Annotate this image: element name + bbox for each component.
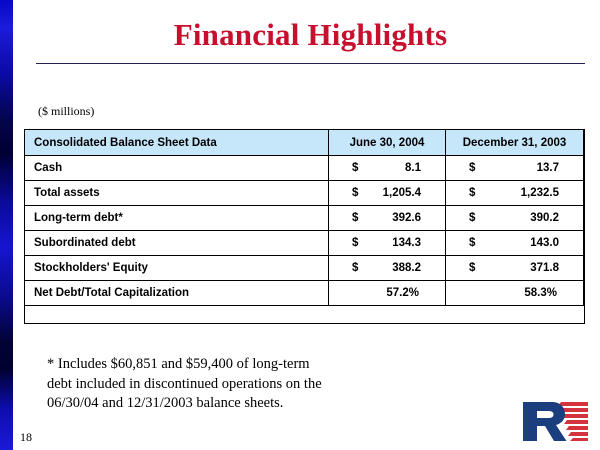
slide-canvas: Financial Highlights ($ millions) Consol… <box>0 0 600 450</box>
row-label-subordinated-debt: Subordinated debt <box>25 231 329 256</box>
cell-cash-december: $ 13.7 <box>446 156 584 181</box>
column-header-june-2004: June 30, 2004 <box>329 130 446 156</box>
currency-symbol: $ <box>352 262 358 274</box>
row-label-total-assets: Total assets <box>25 181 329 206</box>
balance-sheet-table: Consolidated Balance Sheet Data June 30,… <box>24 129 584 306</box>
footnote-line-2: debt included in discontinued operations… <box>47 375 407 395</box>
cell-total-assets-june: $ 1,205.4 <box>329 181 446 206</box>
cell-value: 388.2 <box>392 262 421 274</box>
cell-value: 1,232.5 <box>521 187 559 199</box>
column-header-december-2003: December 31, 2003 <box>446 130 584 156</box>
footnote-line-1: * Includes $60,851 and $59,400 of long-t… <box>47 355 407 375</box>
cell-cash-june: $ 8.1 <box>329 156 446 181</box>
cell-value: 1,205.4 <box>383 187 421 199</box>
cell-long-term-debt-december: $ 390.2 <box>446 206 584 231</box>
currency-symbol: $ <box>352 187 358 199</box>
row-label-cash: Cash <box>25 156 329 181</box>
cell-value: 392.6 <box>392 212 421 224</box>
title-divider <box>36 63 585 64</box>
row-label-net-debt-total-capitalization: Net Debt/Total Capitalization <box>25 281 329 306</box>
table-row: Net Debt/Total Capitalization 57.2% 58.3… <box>25 281 584 306</box>
currency-symbol: $ <box>469 212 475 224</box>
row-label-long-term-debt: Long-term debt* <box>25 206 329 231</box>
cell-value: 371.8 <box>530 262 559 274</box>
table-row: Cash $ 8.1 $ 13.7 <box>25 156 584 181</box>
cell-net-debt-december: 58.3% <box>446 281 584 306</box>
units-label: ($ millions) <box>38 104 94 118</box>
table-header: Consolidated Balance Sheet Data June 30,… <box>25 130 584 156</box>
cell-long-term-debt-june: $ 392.6 <box>329 206 446 231</box>
logo-letter-r-icon <box>523 402 567 441</box>
currency-symbol: $ <box>352 212 358 224</box>
cell-total-assets-december: $ 1,232.5 <box>446 181 584 206</box>
currency-symbol: $ <box>469 262 475 274</box>
table-row: Stockholders' Equity $ 388.2 $ 371.8 <box>25 256 584 281</box>
currency-symbol: $ <box>469 187 475 199</box>
cell-stockholders-equity-june: $ 388.2 <box>329 256 446 281</box>
footnote: * Includes $60,851 and $59,400 of long-t… <box>47 355 407 414</box>
page-number: 18 <box>20 430 32 444</box>
row-label-stockholders-equity: Stockholders' Equity <box>25 256 329 281</box>
cell-value: 143.0 <box>530 237 559 249</box>
currency-symbol: $ <box>469 162 475 174</box>
currency-symbol: $ <box>352 237 358 249</box>
table-body: Cash $ 8.1 $ 13.7 Total assets <box>25 156 584 306</box>
cell-value: 8.1 <box>405 162 421 174</box>
cell-value: 13.7 <box>537 162 559 174</box>
cell-subordinated-debt-december: $ 143.0 <box>446 231 584 256</box>
table-row: Long-term debt* $ 392.6 $ 390.2 <box>25 206 584 231</box>
table-row: Subordinated debt $ 134.3 $ 143.0 <box>25 231 584 256</box>
company-logo <box>519 399 591 443</box>
table-header-row: Consolidated Balance Sheet Data June 30,… <box>25 130 584 156</box>
cell-value: 390.2 <box>530 212 559 224</box>
cell-stockholders-equity-december: $ 371.8 <box>446 256 584 281</box>
cell-subordinated-debt-june: $ 134.3 <box>329 231 446 256</box>
footnote-line-3: 06/30/04 and 12/31/2003 balance sheets. <box>47 394 407 414</box>
cell-value: 134.3 <box>392 237 421 249</box>
page-title: Financial Highlights <box>36 16 585 54</box>
column-header-metric: Consolidated Balance Sheet Data <box>25 130 329 156</box>
table-row: Total assets $ 1,205.4 $ 1,232.5 <box>25 181 584 206</box>
currency-symbol: $ <box>469 237 475 249</box>
cell-net-debt-june: 57.2% <box>329 281 446 306</box>
currency-symbol: $ <box>352 162 358 174</box>
